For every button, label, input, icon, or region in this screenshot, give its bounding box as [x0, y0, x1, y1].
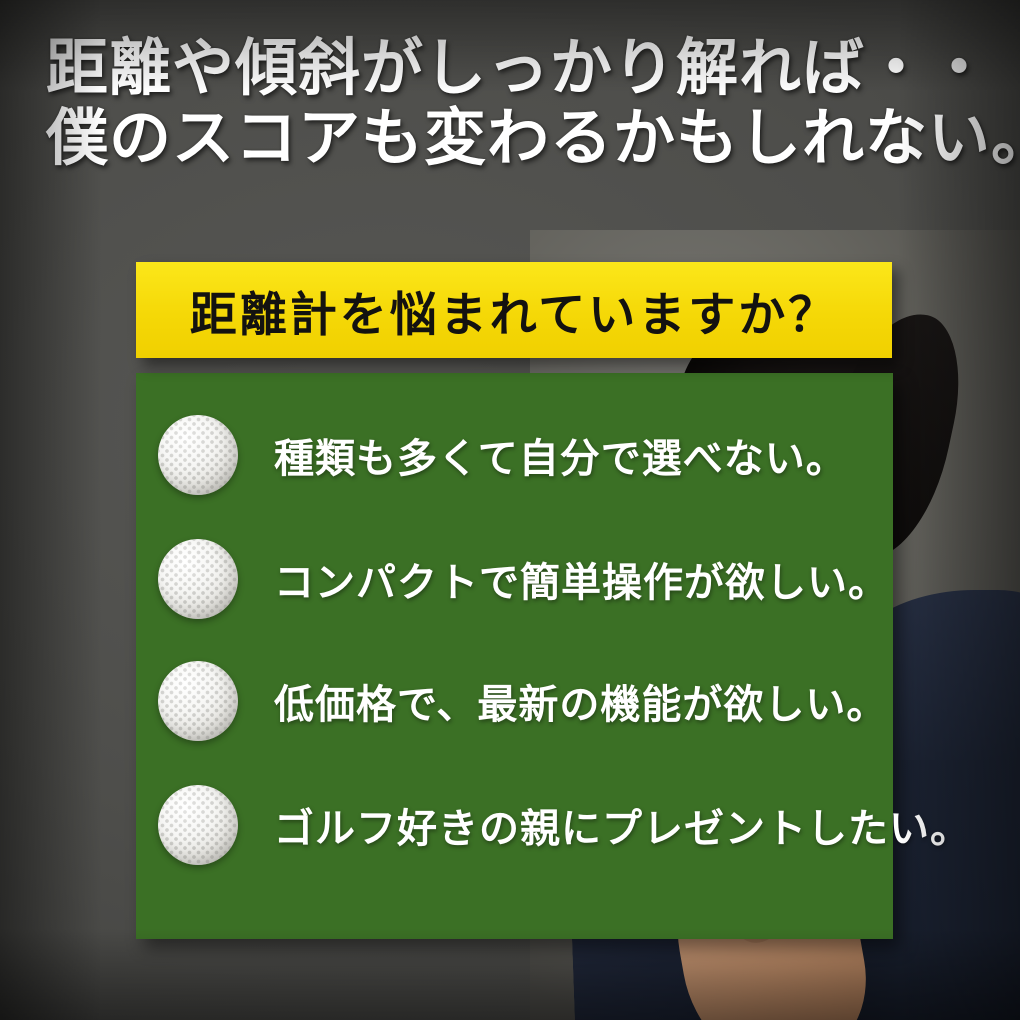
list-item-label: 低価格で、最新の機能が欲しい。 — [274, 672, 887, 730]
list-item: コンパクトで簡単操作が欲しい。 — [136, 519, 893, 639]
promo-banner-canvas: 距離や傾斜がしっかり解れば・・ 僕のスコアも変わるかもしれない。 距離計を悩まれ… — [0, 0, 1020, 1020]
list-item: 種類も多くて自分で選べない。 — [136, 395, 893, 515]
golf-ball-icon — [158, 785, 238, 865]
list-item-label: ゴルフ好きの親にプレゼントしたい。 — [274, 796, 971, 854]
list-item-label: コンパクトで簡単操作が欲しい。 — [274, 550, 889, 608]
list-item: 低価格で、最新の機能が欲しい。 — [136, 641, 893, 761]
golf-ball-icon — [158, 661, 238, 741]
headline: 距離や傾斜がしっかり解れば・・ 僕のスコアも変わるかもしれない。 — [0, 34, 1020, 174]
list-item-label: 種類も多くて自分で選べない。 — [274, 426, 847, 484]
golf-ball-icon — [158, 415, 238, 495]
concerns-list: 種類も多くて自分で選べない。 コンパクトで簡単操作が欲しい。 低価格で、最新の機… — [136, 373, 893, 939]
list-item: ゴルフ好きの親にプレゼントしたい。 — [136, 765, 893, 885]
headline-line-2: 僕のスコアも変わるかもしれない。 — [46, 104, 1020, 174]
question-banner: 距離計を悩まれていますか？ — [136, 262, 892, 358]
golf-ball-icon — [158, 539, 238, 619]
concerns-panel: 種類も多くて自分で選べない。 コンパクトで簡単操作が欲しい。 低価格で、最新の機… — [136, 373, 893, 939]
headline-line-1: 距離や傾斜がしっかり解れば・・ — [46, 34, 1020, 104]
question-banner-label: 距離計を悩まれていますか？ — [190, 276, 839, 345]
